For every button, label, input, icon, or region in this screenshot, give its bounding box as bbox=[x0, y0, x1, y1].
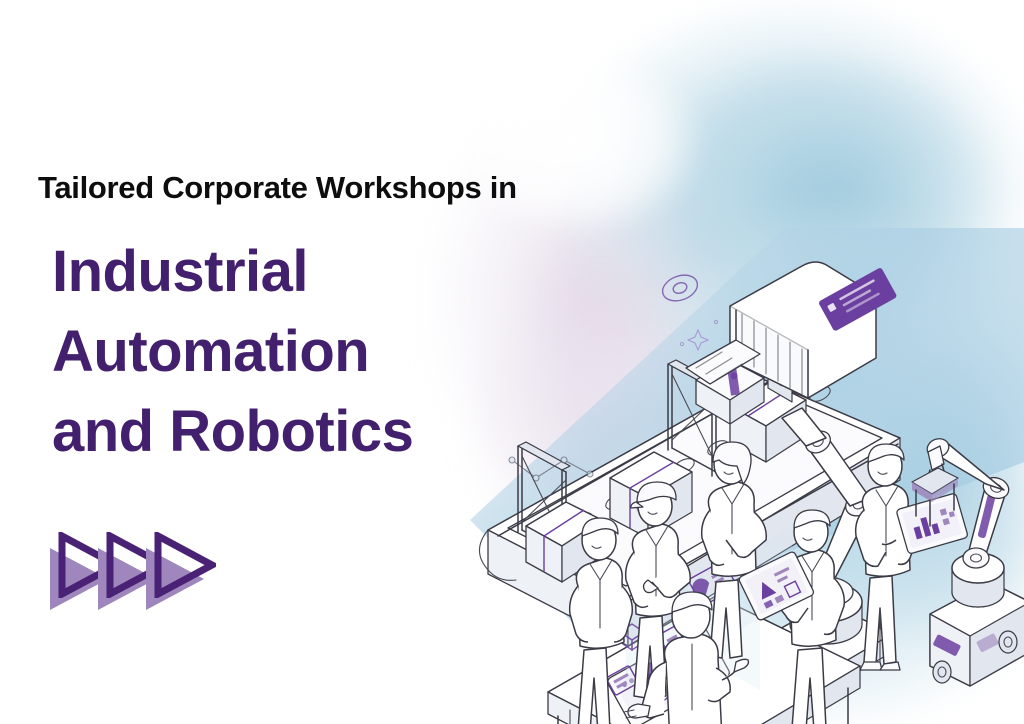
chevron-decoration bbox=[48, 528, 228, 620]
headline-line-3: and Robotics bbox=[52, 392, 413, 472]
headline-line-1: Industrial bbox=[52, 232, 413, 312]
headline-line-2: Automation bbox=[52, 312, 413, 392]
marketing-banner: .ln { fill:none; stroke:#3b3b46; stroke-… bbox=[0, 0, 1024, 724]
chevron-3 bbox=[144, 528, 216, 620]
industrial-automation-illustration: .ln { fill:none; stroke:#3b3b46; stroke-… bbox=[430, 210, 1024, 724]
eyebrow-text: Tailored Corporate Workshops in bbox=[38, 170, 517, 206]
chevron-3-outline bbox=[154, 532, 216, 598]
page-title: Industrial Automation and Robotics bbox=[52, 232, 413, 472]
